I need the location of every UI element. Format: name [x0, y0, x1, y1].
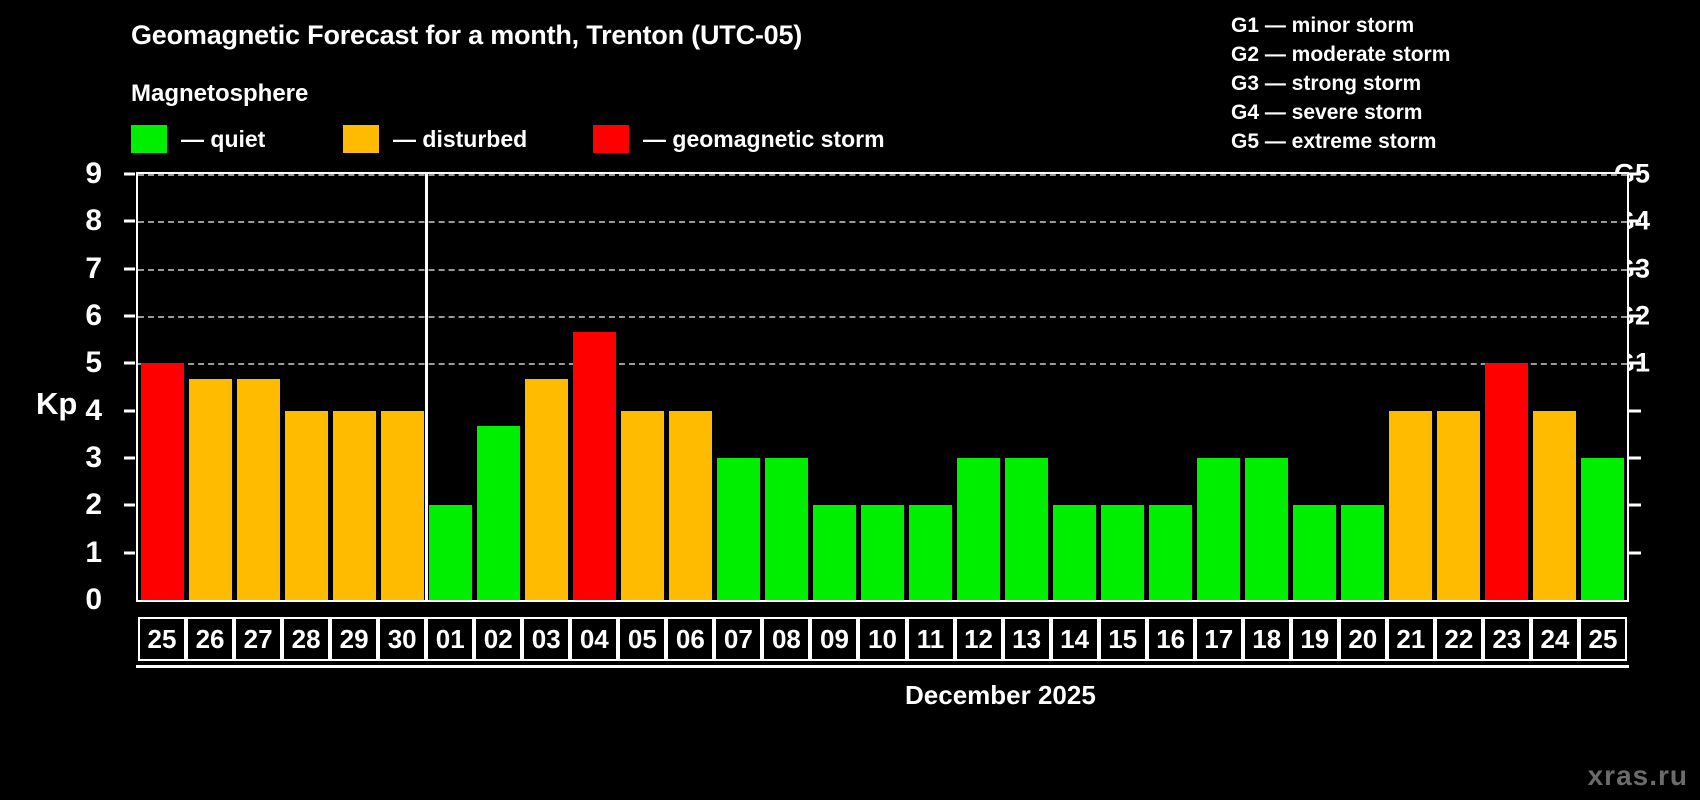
bar-day-30: [381, 411, 424, 600]
y-tick-mark-2: [124, 504, 135, 507]
g-legend-row-4: G4 — severe storm: [1231, 98, 1450, 127]
x-axis-day-26: 26: [186, 617, 234, 661]
legend-label-storm: — geomagnetic storm: [643, 126, 885, 153]
bar-day-05: [621, 411, 664, 600]
bar-day-27: [237, 379, 280, 600]
x-axis-day-15: 15: [1099, 617, 1147, 661]
x-axis-day-24: 24: [1531, 617, 1579, 661]
bar-day-09: [813, 505, 856, 600]
magnetosphere-heading: Magnetosphere: [131, 80, 308, 108]
x-axis-day-27: 27: [234, 617, 282, 661]
legend-item-storm: — geomagnetic storm: [593, 124, 885, 154]
geomagnetic-forecast-chart: Geomagnetic Forecast for a month, Trento…: [0, 0, 1700, 800]
bar-day-04: [573, 332, 616, 600]
x-axis-day-09: 09: [810, 617, 858, 661]
g-axis-minor-tick-kp-1: [1629, 551, 1641, 554]
legend-item-quiet: — quiet: [131, 124, 265, 154]
legend-swatch-disturbed: [343, 125, 379, 153]
x-axis-day-20: 20: [1339, 617, 1387, 661]
g-scale-legend: G1 — minor stormG2 — moderate stormG3 — …: [1231, 11, 1450, 156]
bar-day-11: [909, 505, 952, 600]
y-tick-label-1: 1: [62, 538, 102, 568]
page-title: Geomagnetic Forecast for a month, Trento…: [131, 20, 802, 51]
bar-day-24: [1533, 411, 1576, 600]
x-axis-day-11: 11: [907, 617, 955, 661]
bar-day-18: [1245, 458, 1288, 600]
x-axis-day-21: 21: [1387, 617, 1435, 661]
x-axis-label: December 2025: [905, 680, 1096, 711]
g-axis-minor-tick-kp-2: [1629, 504, 1641, 507]
legend-swatch-quiet: [131, 125, 167, 153]
bar-day-07: [717, 458, 760, 600]
watermark: xras.ru: [1588, 760, 1688, 792]
bar-day-23: [1485, 363, 1528, 600]
bar-day-08: [765, 458, 808, 600]
x-axis-day-25: 25: [138, 617, 186, 661]
y-tick-label-8: 8: [62, 206, 102, 236]
y-tick-mark-3: [124, 457, 135, 460]
y-tick-mark-6: [124, 315, 135, 318]
y-tick-label-5: 5: [62, 348, 102, 378]
y-tick-label-0: 0: [62, 585, 102, 615]
x-axis-day-29: 29: [330, 617, 378, 661]
g-tick-mark-G5: [1629, 173, 1641, 176]
y-tick-label-2: 2: [62, 490, 102, 520]
forecast-separator: [425, 174, 428, 600]
y-tick-label-4: 4: [62, 396, 102, 426]
y-tick-mark-1: [124, 551, 135, 554]
g-legend-row-3: G3 — strong storm: [1231, 69, 1450, 98]
g-legend-row-2: G2 — moderate storm: [1231, 40, 1450, 69]
g-tick-mark-G3: [1629, 267, 1641, 270]
x-axis-day-22: 22: [1435, 617, 1483, 661]
bar-day-26: [189, 379, 232, 600]
x-axis-day-10: 10: [858, 617, 906, 661]
legend-label-disturbed: — disturbed: [393, 126, 527, 153]
bar-day-16: [1149, 505, 1192, 600]
bar-day-20: [1341, 505, 1384, 600]
x-axis-day-06: 06: [666, 617, 714, 661]
bar-day-02: [477, 426, 520, 600]
bar-day-19: [1293, 505, 1336, 600]
bar-series: [138, 174, 1627, 600]
bar-day-15: [1101, 505, 1144, 600]
x-axis-day-17: 17: [1195, 617, 1243, 661]
x-axis-baseline: [136, 665, 1629, 668]
x-axis-day-19: 19: [1291, 617, 1339, 661]
y-tick-label-3: 3: [62, 443, 102, 473]
bar-day-13: [1005, 458, 1048, 600]
y-tick-label-9: 9: [62, 159, 102, 189]
g-axis-minor-tick-kp-3: [1629, 457, 1641, 460]
x-axis-day-18: 18: [1243, 617, 1291, 661]
bar-day-17: [1197, 458, 1240, 600]
bar-day-14: [1053, 505, 1096, 600]
g-legend-row-5: G5 — extreme storm: [1231, 127, 1450, 156]
bar-day-10: [861, 505, 904, 600]
bar-day-28: [285, 411, 328, 600]
x-axis-day-14: 14: [1051, 617, 1099, 661]
bar-day-25: [1581, 458, 1624, 600]
legend-item-disturbed: — disturbed: [343, 124, 527, 154]
bar-day-21: [1389, 411, 1432, 600]
bar-day-06: [669, 411, 712, 600]
legend-swatch-storm: [593, 125, 629, 153]
x-axis-day-01: 01: [426, 617, 474, 661]
x-axis-day-28: 28: [282, 617, 330, 661]
g-tick-mark-G1: [1629, 362, 1641, 365]
x-axis-days: 2526272829300102030405060708091011121314…: [136, 617, 1629, 661]
y-tick-label-7: 7: [62, 254, 102, 284]
x-axis-day-13: 13: [1003, 617, 1051, 661]
bar-day-29: [333, 411, 376, 600]
x-axis-day-23: 23: [1483, 617, 1531, 661]
bar-day-25: [141, 363, 184, 600]
y-tick-mark-4: [124, 409, 135, 412]
g-axis-minor-tick-kp-4: [1629, 409, 1641, 412]
y-tick-mark-9: [124, 173, 135, 176]
x-axis-day-25: 25: [1579, 617, 1627, 661]
x-axis-day-30: 30: [378, 617, 426, 661]
x-axis-day-03: 03: [522, 617, 570, 661]
legend-label-quiet: — quiet: [181, 126, 265, 153]
plot-area: [136, 172, 1629, 602]
x-axis-day-04: 04: [570, 617, 618, 661]
x-axis-day-05: 05: [618, 617, 666, 661]
y-tick-mark-5: [124, 362, 135, 365]
bar-day-01: [429, 505, 472, 600]
g-legend-row-1: G1 — minor storm: [1231, 11, 1450, 40]
bar-day-03: [525, 379, 568, 600]
g-tick-mark-G4: [1629, 220, 1641, 223]
bar-day-12: [957, 458, 1000, 600]
x-axis-day-08: 08: [762, 617, 810, 661]
x-axis-day-02: 02: [474, 617, 522, 661]
x-axis-day-12: 12: [955, 617, 1003, 661]
g-tick-mark-G2: [1629, 315, 1641, 318]
y-tick-mark-7: [124, 267, 135, 270]
y-tick-mark-8: [124, 220, 135, 223]
bar-day-22: [1437, 411, 1480, 600]
x-axis-day-16: 16: [1147, 617, 1195, 661]
y-tick-label-6: 6: [62, 301, 102, 331]
x-axis-day-07: 07: [714, 617, 762, 661]
